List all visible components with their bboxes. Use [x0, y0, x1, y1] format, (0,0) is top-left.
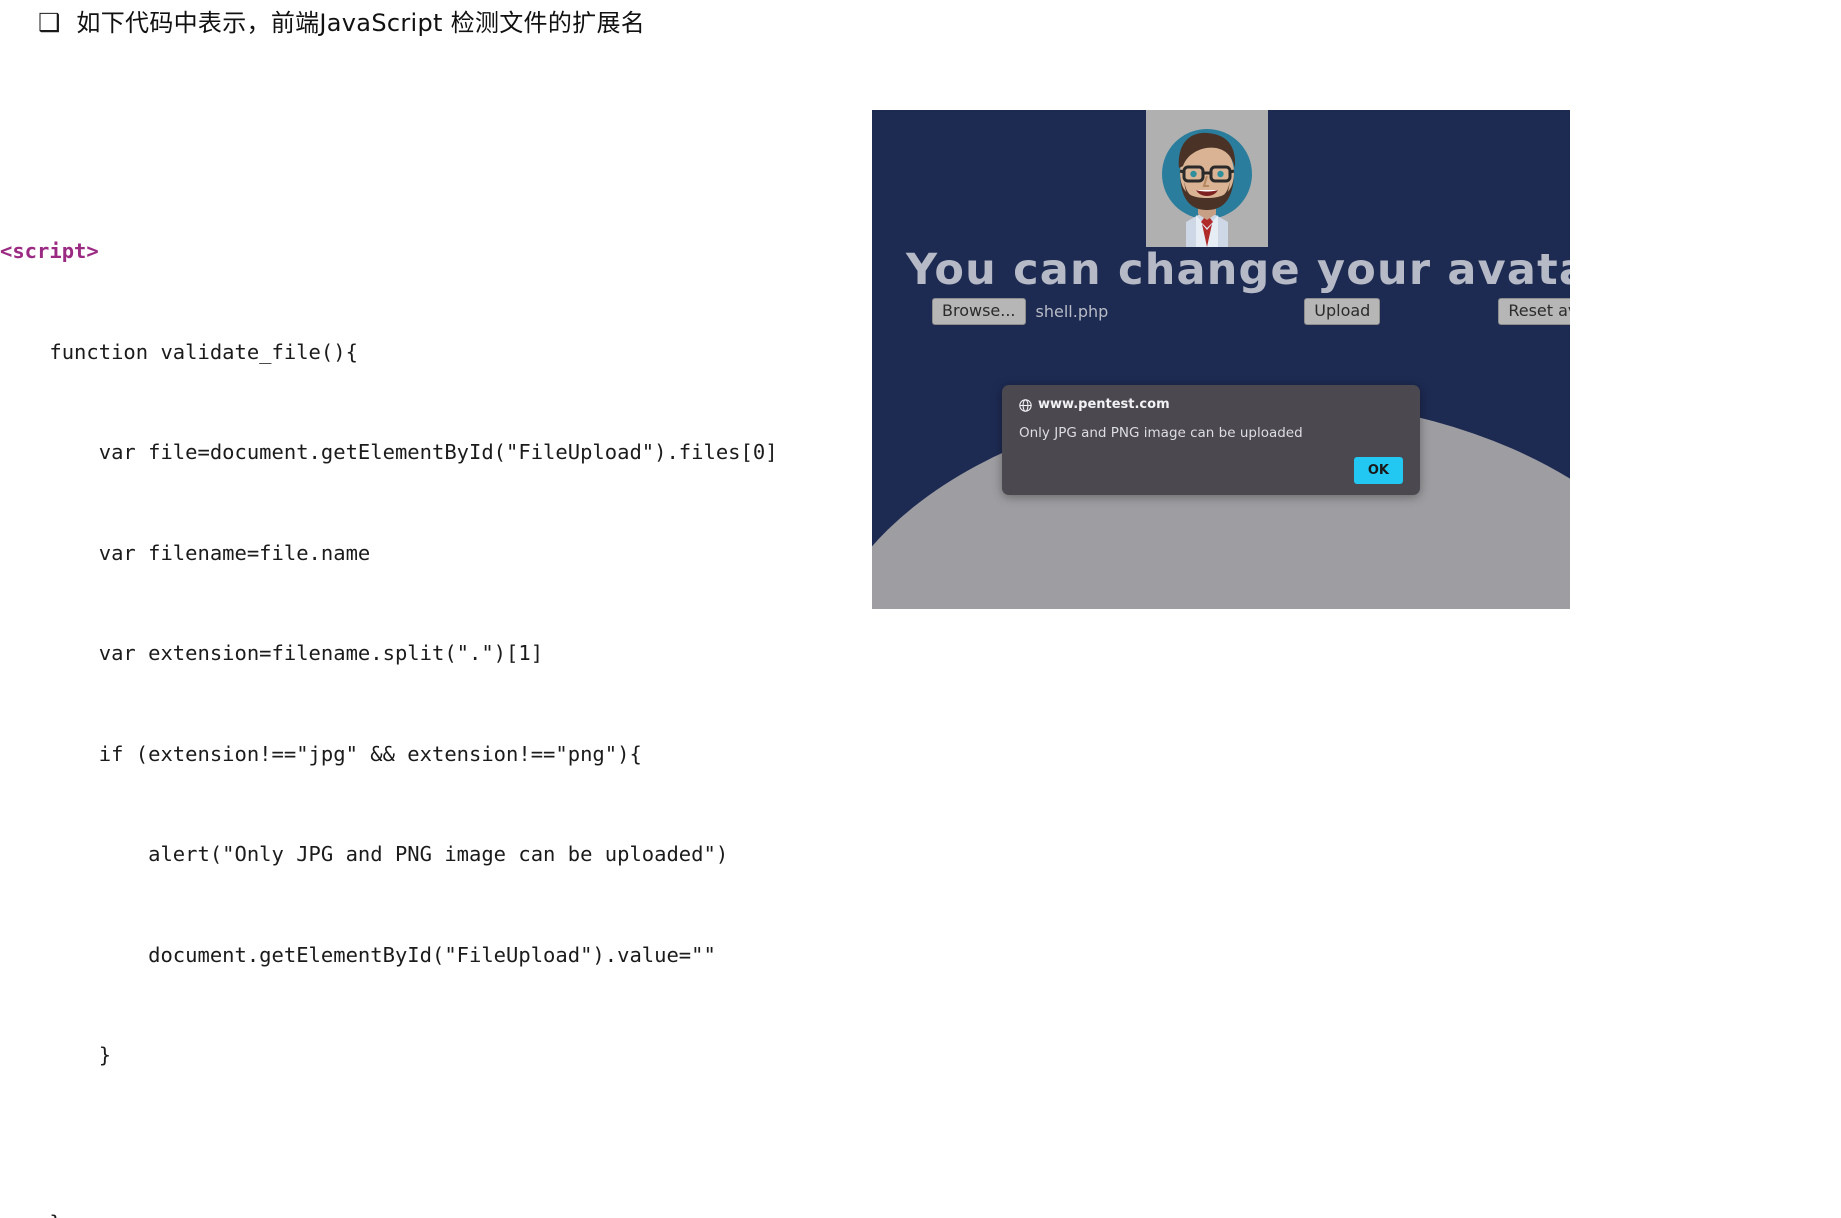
selected-file-name: shell.php	[1036, 302, 1109, 321]
code-line: document.getElementById("FileUpload").va…	[0, 939, 778, 973]
slide-bullet-line: ❑ 如下代码中表示，前端JavaScript 检测文件的扩展名	[38, 6, 645, 40]
dialog-message: Only JPG and PNG image can be uploaded	[1019, 425, 1403, 441]
code-line: var filename=file.name	[0, 537, 778, 571]
upload-button[interactable]: Upload	[1304, 298, 1380, 325]
avatar	[1146, 110, 1268, 247]
code-line-script-tag: <script>	[0, 235, 778, 269]
reset-avatar-button[interactable]: Reset avatar	[1498, 298, 1570, 325]
code-line: if (extension!=="jpg" && extension!=="pn…	[0, 738, 778, 772]
code-line: var file=document.getElementById("FileUp…	[0, 436, 778, 470]
slide-bullet-text: 如下代码中表示，前端JavaScript 检测文件的扩展名	[76, 6, 645, 40]
avatar-upload-controls: Browse... shell.php Upload Reset avatar	[932, 298, 1570, 324]
code-line: }	[0, 1207, 778, 1218]
ok-button[interactable]: OK	[1354, 457, 1403, 484]
dialog-actions: OK	[1354, 457, 1403, 484]
globe-icon	[1019, 399, 1032, 412]
page-title: You can change your avatar here	[906, 244, 1570, 296]
code-line: function validate_file(){	[0, 336, 778, 370]
javascript-code-block: <script> function validate_file(){ var f…	[0, 168, 778, 1218]
alert-dialog: www.pentest.com Only JPG and PNG image c…	[1002, 385, 1420, 495]
dialog-header: www.pentest.com	[1019, 398, 1403, 412]
avatar-illustration-icon	[1146, 110, 1268, 247]
code-line: alert("Only JPG and PNG image can be upl…	[0, 838, 778, 872]
code-line: }	[0, 1039, 778, 1073]
bullet-square-icon: ❑	[38, 6, 60, 40]
code-line: var extension=filename.split(".")[1]	[0, 637, 778, 671]
browse-button[interactable]: Browse...	[932, 298, 1026, 325]
browser-screenshot-panel: You can change your avatar here Browse..…	[872, 110, 1570, 609]
dialog-origin: www.pentest.com	[1038, 398, 1170, 412]
